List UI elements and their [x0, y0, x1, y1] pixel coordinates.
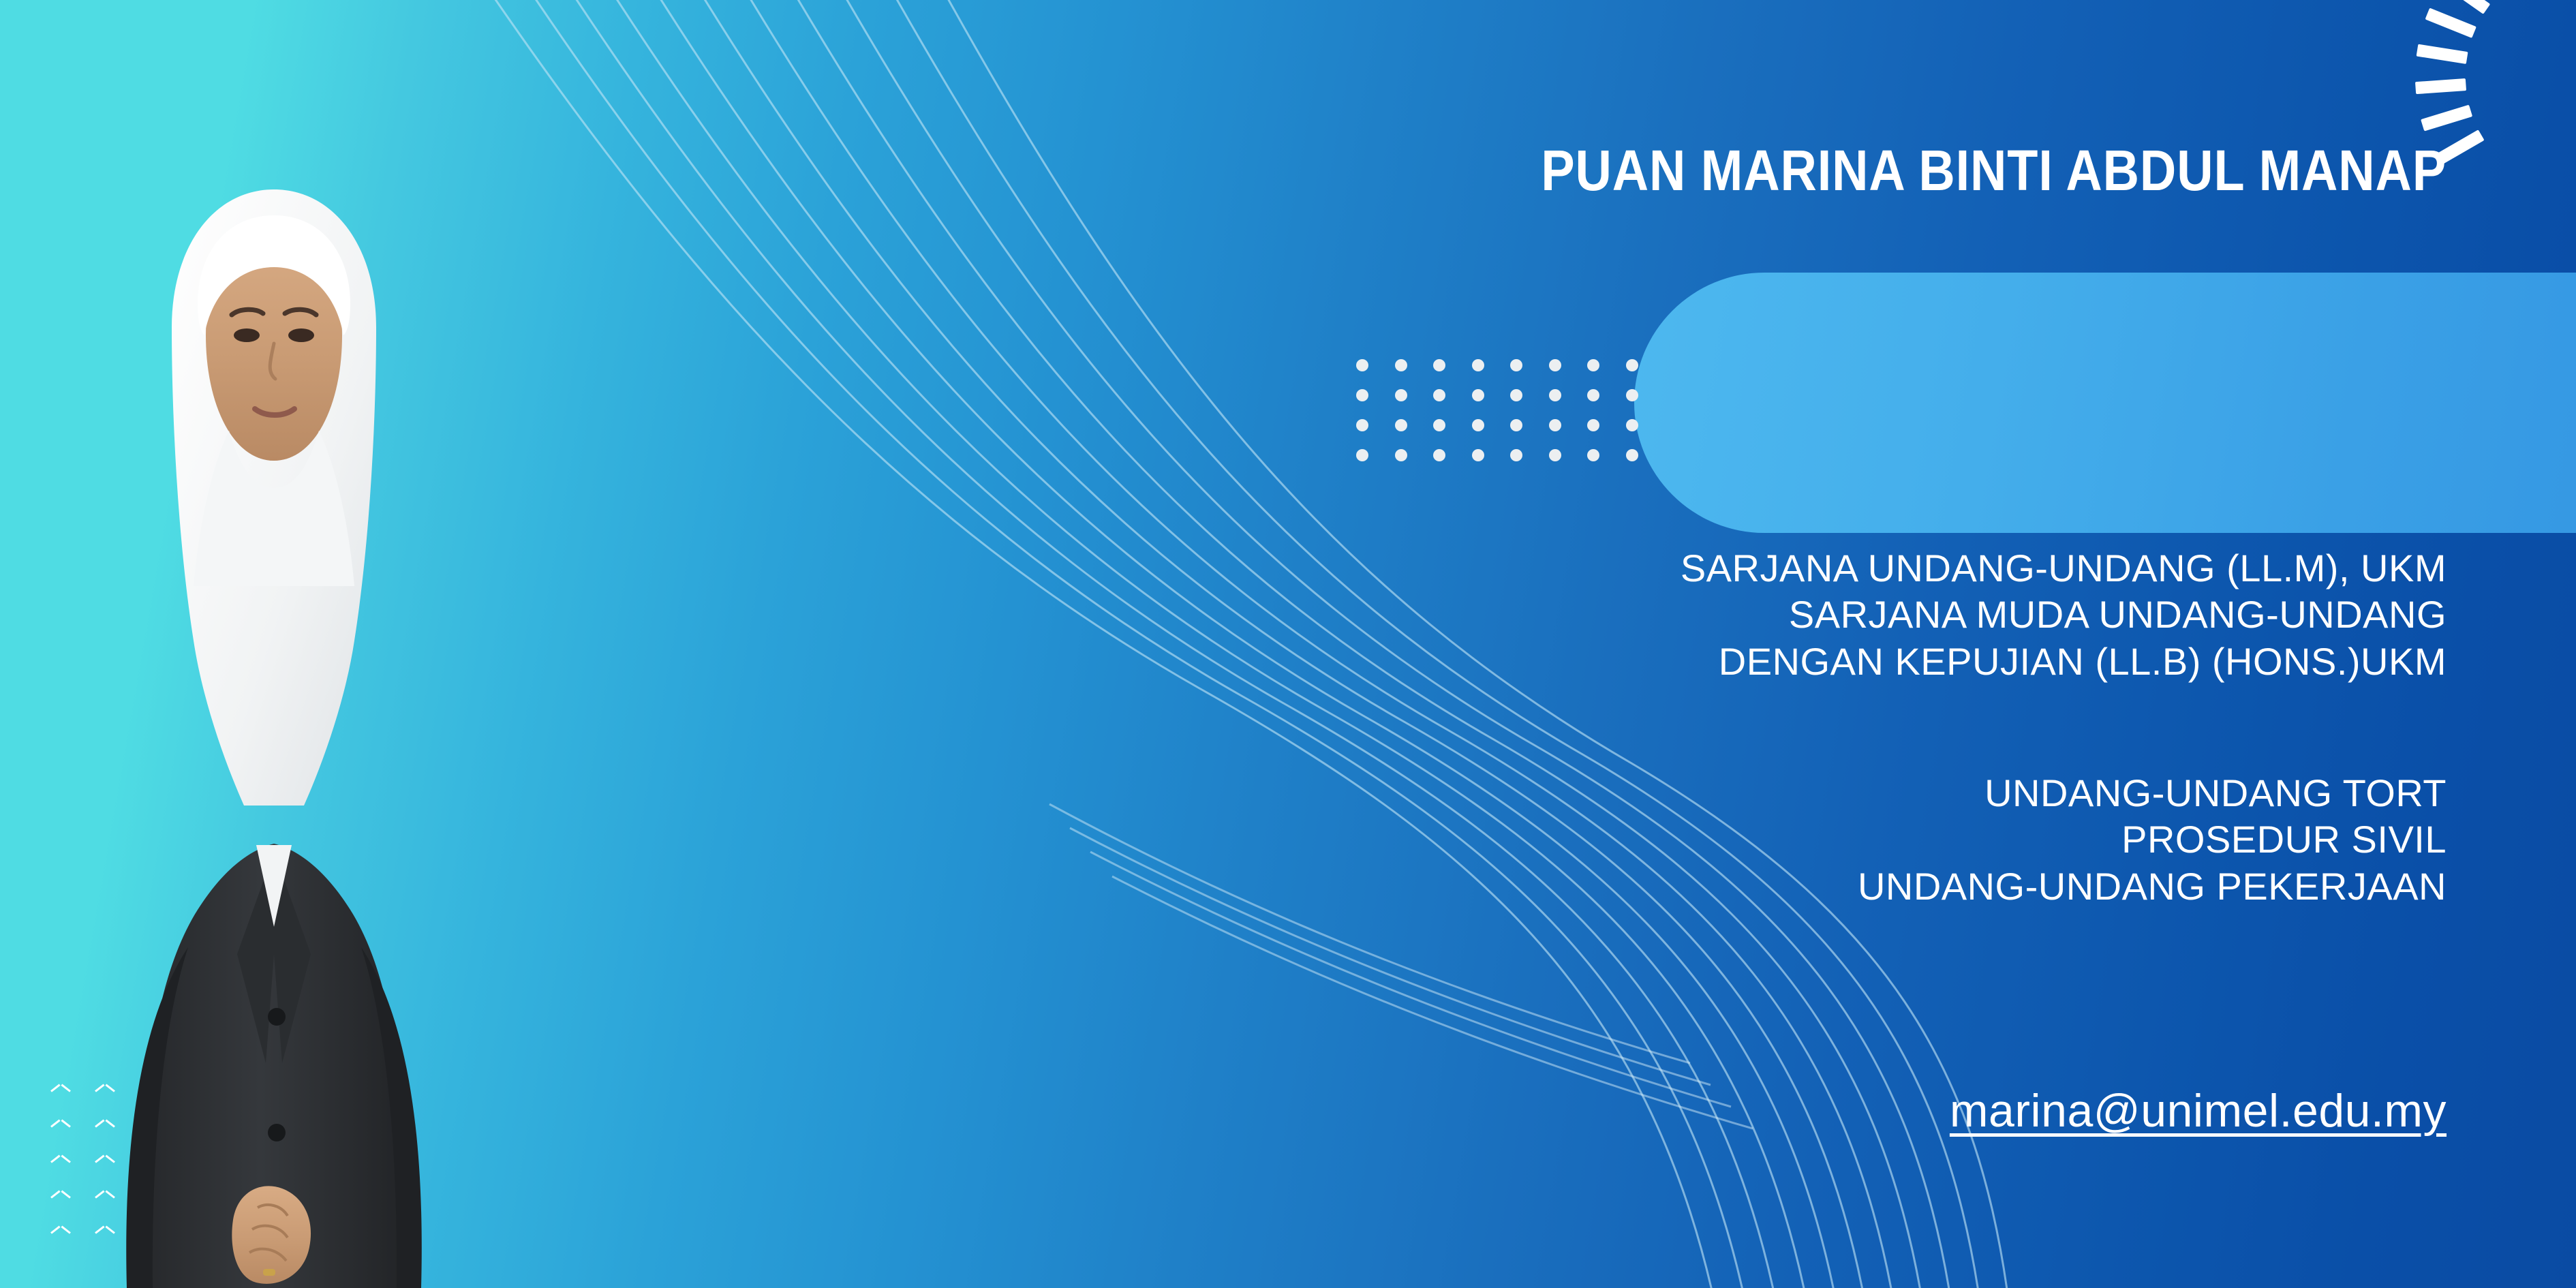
subjects-block: UNDANG-UNDANG TORT PROSEDUR SIVIL UNDANG…: [1424, 770, 2447, 910]
dot: [1587, 389, 1599, 401]
qualification-line: SARJANA MUDA UNDANG-UNDANG: [1424, 592, 2447, 638]
dot-grid-row: [1356, 359, 1638, 371]
dot: [1472, 389, 1484, 401]
dot-grid-decoration: [1356, 359, 1638, 461]
poster-canvas: PUAN MARINA BINTI ABDUL MANAP SARJANA UN…: [0, 0, 2576, 1288]
eye-right: [288, 328, 314, 342]
dot: [1510, 419, 1522, 431]
dot: [1356, 389, 1368, 401]
contact-block: marina@unimel.edu.my: [1424, 1084, 2447, 1139]
dot: [1549, 419, 1561, 431]
dot: [1587, 419, 1599, 431]
dot: [1587, 359, 1599, 371]
dot: [1549, 449, 1561, 461]
dot: [1433, 419, 1445, 431]
dot: [1510, 359, 1522, 371]
dot-grid-row: [1356, 419, 1638, 431]
dot: [1626, 449, 1638, 461]
page-title: PUAN MARINA BINTI ABDUL MANAP: [1409, 142, 2447, 199]
dot: [1395, 419, 1407, 431]
dot: [1395, 359, 1407, 371]
dot: [1433, 449, 1445, 461]
dot: [1626, 389, 1638, 401]
subject-line: UNDANG-UNDANG TORT: [1424, 770, 2447, 816]
portrait-svg: [61, 68, 484, 1288]
dot: [1356, 449, 1368, 461]
dot: [1587, 449, 1599, 461]
qualification-line: DENGAN KEPUJIAN (LL.B) (HONS.)UKM: [1424, 639, 2447, 685]
dot: [1549, 359, 1561, 371]
dot-grid-row: [1356, 449, 1638, 461]
dot: [1395, 389, 1407, 401]
qualifications-block: SARJANA UNDANG-UNDANG (LL.M), UKM SARJAN…: [1424, 545, 2447, 685]
blazer-button: [268, 1124, 286, 1141]
eye-left: [234, 328, 260, 342]
dot: [1433, 389, 1445, 401]
blazer-button: [268, 1008, 286, 1026]
dot: [1549, 389, 1561, 401]
dot: [1626, 359, 1638, 371]
qualification-line: SARJANA UNDANG-UNDANG (LL.M), UKM: [1424, 545, 2447, 592]
dot: [1356, 359, 1368, 371]
dot: [1433, 359, 1445, 371]
dot: [1510, 389, 1522, 401]
subject-line: PROSEDUR SIVIL: [1424, 816, 2447, 863]
dot-grid-row: [1356, 389, 1638, 401]
accent-pill-shape: [1634, 273, 2576, 533]
dot: [1472, 449, 1484, 461]
dot: [1356, 419, 1368, 431]
portrait-photo: [61, 68, 484, 1288]
dot: [1510, 449, 1522, 461]
dot: [1472, 359, 1484, 371]
dot: [1472, 419, 1484, 431]
subject-line: UNDANG-UNDANG PEKERJAAN: [1424, 863, 2447, 910]
ring: [263, 1269, 275, 1276]
email-link[interactable]: marina@unimel.edu.my: [1424, 1084, 2447, 1139]
dot: [1395, 449, 1407, 461]
dot: [1626, 419, 1638, 431]
